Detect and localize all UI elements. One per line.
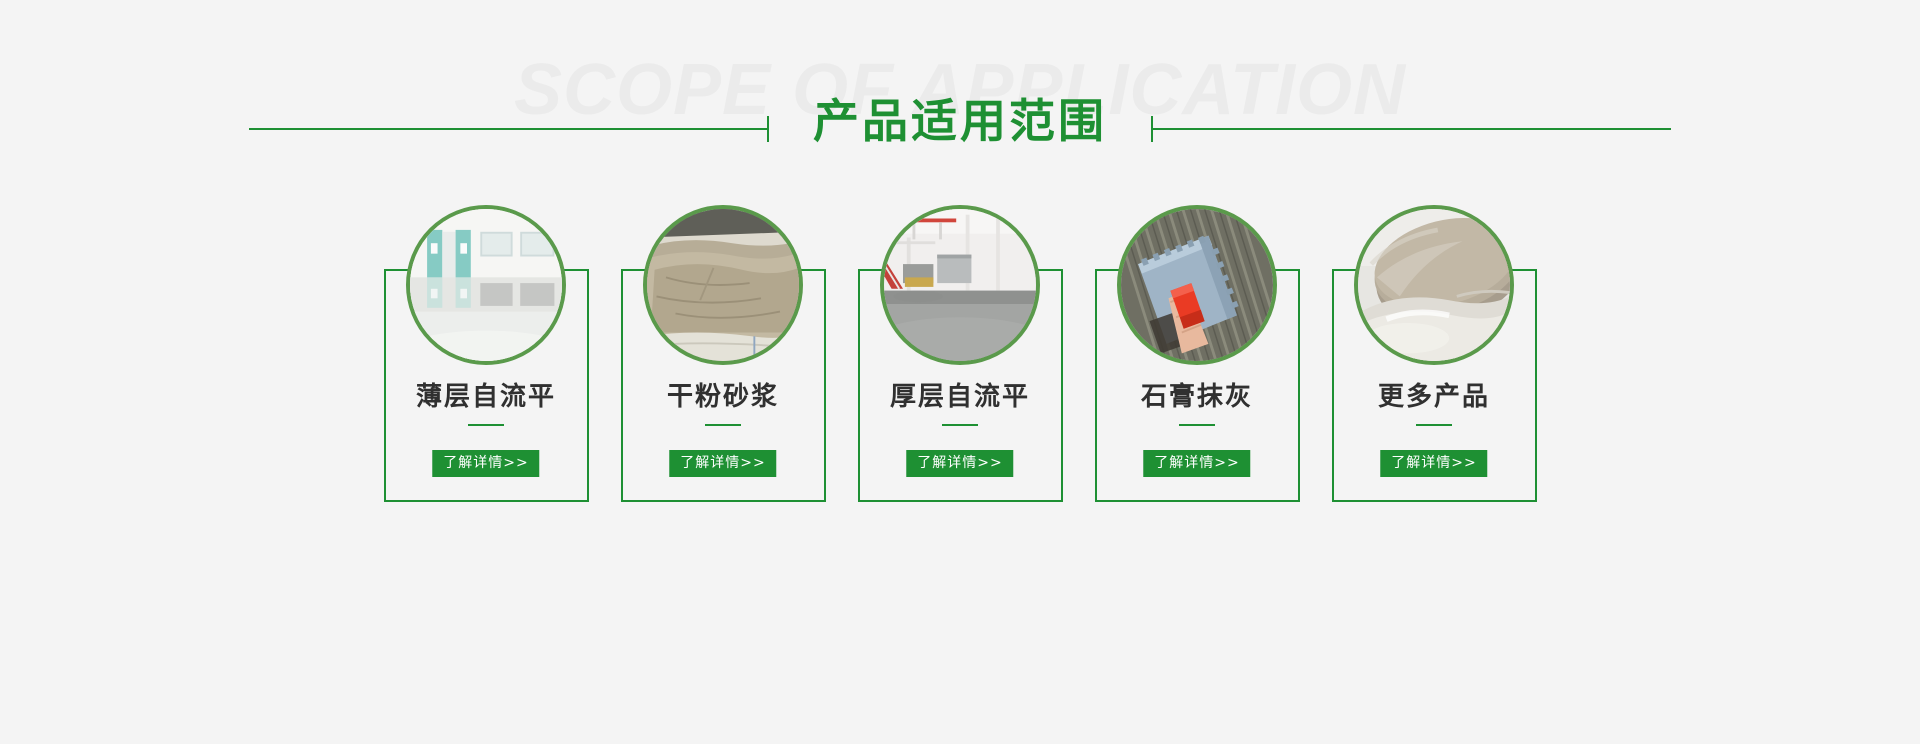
card-frame-bottom-bar <box>1095 500 1300 502</box>
card-title: 干粉砂浆 <box>621 383 826 412</box>
card-title: 厚层自流平 <box>858 383 1063 412</box>
card-title: 石膏抹灰 <box>1095 383 1300 412</box>
card-title: 薄层自流平 <box>384 383 589 412</box>
header-rule-left-line <box>249 128 769 130</box>
page-title: 产品适用范围 <box>769 98 1151 144</box>
card-frame-bottom-bar <box>1332 500 1537 502</box>
card-title-divider <box>468 424 504 426</box>
learn-more-button[interactable]: 了解详情>> <box>906 450 1013 477</box>
header-rule-right-tick <box>1151 116 1153 142</box>
card-title-divider <box>1416 424 1452 426</box>
product-card[interactable]: 厚层自流平 了解详情>> <box>858 205 1063 515</box>
learn-more-button[interactable]: 了解详情>> <box>669 450 776 477</box>
card-title-divider <box>942 424 978 426</box>
card-title-divider <box>1179 424 1215 426</box>
product-card[interactable]: 薄层自流平 了解详情>> <box>384 205 589 515</box>
card-frame-bottom-bar <box>621 500 826 502</box>
header-rule: 产品适用范围 <box>0 100 1920 162</box>
thick-layer-self-leveling-floor-photo[interactable] <box>880 205 1040 365</box>
product-card[interactable]: 干粉砂浆 了解详情>> <box>621 205 826 515</box>
section-header: SCOPE OF APPLICATION 产品适用范围 <box>0 0 1920 200</box>
thin-layer-self-leveling-floor-photo[interactable] <box>406 205 566 365</box>
learn-more-button[interactable]: 了解详情>> <box>1380 450 1487 477</box>
card-frame-bottom-bar <box>858 500 1063 502</box>
more-products-photo[interactable] <box>1354 205 1514 365</box>
product-card-row: 薄层自流平 了解详情>> 干 <box>0 205 1920 525</box>
learn-more-button[interactable]: 了解详情>> <box>1143 450 1250 477</box>
card-title: 更多产品 <box>1332 383 1537 412</box>
header-rule-left-tick <box>767 116 769 142</box>
header-rule-right <box>1151 100 1671 162</box>
dry-powder-mortar-photo[interactable] <box>643 205 803 365</box>
gypsum-plastering-trowel-photo[interactable] <box>1117 205 1277 365</box>
header-rule-left <box>249 100 769 162</box>
product-card[interactable]: 石膏抹灰 了解详情>> <box>1095 205 1300 515</box>
card-frame-bottom-bar <box>384 500 589 502</box>
learn-more-button[interactable]: 了解详情>> <box>432 450 539 477</box>
product-card[interactable]: 更多产品 了解详情>> <box>1332 205 1537 515</box>
header-rule-right-line <box>1151 128 1671 130</box>
card-title-divider <box>705 424 741 426</box>
